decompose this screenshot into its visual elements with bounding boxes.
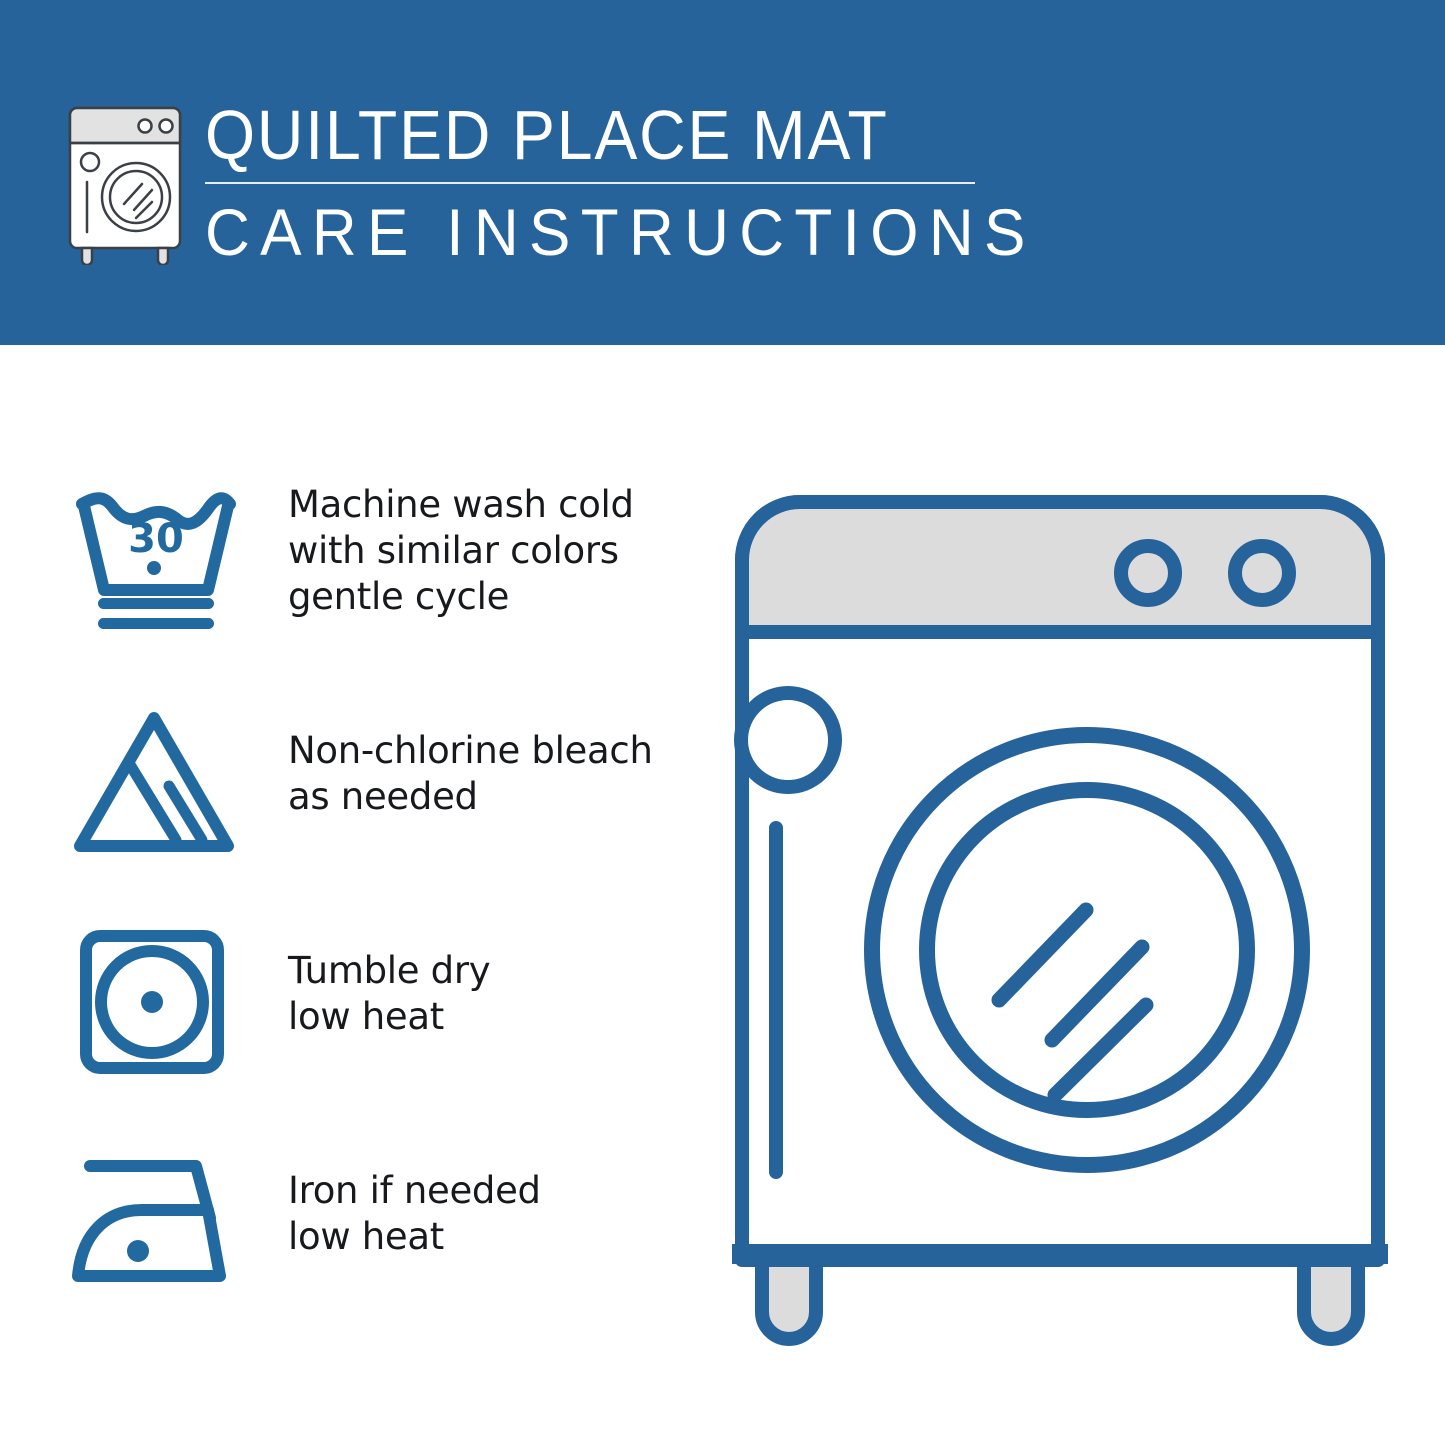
care-item-wash: 30 Machine wash cold with similar colors…: [0, 485, 700, 655]
front-dial-icon[interactable]: [741, 693, 835, 787]
care-item-iron: Iron if needed low heat: [0, 1130, 700, 1300]
care-item-wash-label: Machine wash cold with similar colors ge…: [288, 482, 634, 620]
iron-low-heat-icon: [68, 1148, 233, 1293]
header-band: QUILTED PLACE MAT CARE INSTRUCTIONS: [0, 0, 1445, 345]
machine-wash-30-icon: 30: [70, 490, 240, 650]
page-title: QUILTED PLACE MAT: [205, 100, 941, 170]
title-divider: [205, 182, 975, 184]
care-item-iron-label: Iron if needed low heat: [288, 1168, 541, 1260]
control-knob-left[interactable]: [1121, 546, 1175, 600]
tumble-dry-low-icon: [78, 928, 226, 1076]
machine-leg-right: [1304, 1260, 1358, 1339]
care-item-bleach-label: Non-chlorine bleach as needed: [288, 728, 653, 820]
page-subtitle: CARE INSTRUCTIONS: [205, 198, 957, 267]
machine-leg-left: [762, 1260, 816, 1339]
care-item-bleach: Non-chlorine bleach as needed: [0, 700, 700, 870]
care-instructions-page: QUILTED PLACE MAT CARE INSTRUCTIONS 30 M…: [0, 0, 1445, 1445]
washing-machine-icon: [62, 100, 192, 265]
care-item-tumble-dry: Tumble dry low heat: [0, 920, 700, 1090]
svg-text:30: 30: [128, 516, 184, 562]
header-title-block: QUILTED PLACE MAT CARE INSTRUCTIONS: [205, 100, 1005, 267]
care-item-tumble-dry-label: Tumble dry low heat: [288, 948, 490, 1040]
front-load-washing-machine-illustration: [700, 460, 1420, 1380]
non-chlorine-bleach-triangle-icon: [72, 708, 237, 858]
control-knob-right[interactable]: [1235, 546, 1289, 600]
care-instruction-list: 30 Machine wash cold with similar colors…: [0, 345, 700, 1445]
